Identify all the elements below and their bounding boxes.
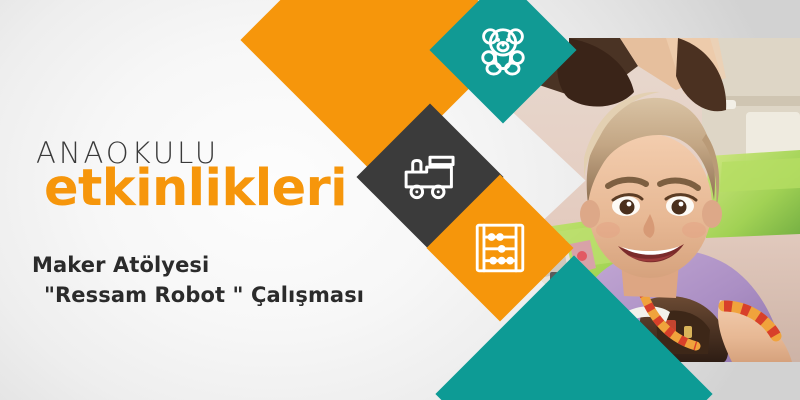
banner-subtitle-line1: Maker Atölyesi xyxy=(32,253,209,277)
banner-text-block: ANAOKULU etkinlikleri Maker Atölyesi "Re… xyxy=(0,0,420,400)
banner-subtitle-line2: "Ressam Robot " Çalışması xyxy=(32,280,364,310)
banner-headline: etkinlikleri xyxy=(44,162,347,216)
teddy-bear-icon xyxy=(451,0,555,102)
abacus-icon xyxy=(448,196,552,300)
kindergarten-activity-banner: ANAOKULU etkinlikleri Maker Atölyesi "Re… xyxy=(0,0,800,400)
banner-subtitle: Maker Atölyesi "Ressam Robot " Çalışması xyxy=(32,250,364,310)
